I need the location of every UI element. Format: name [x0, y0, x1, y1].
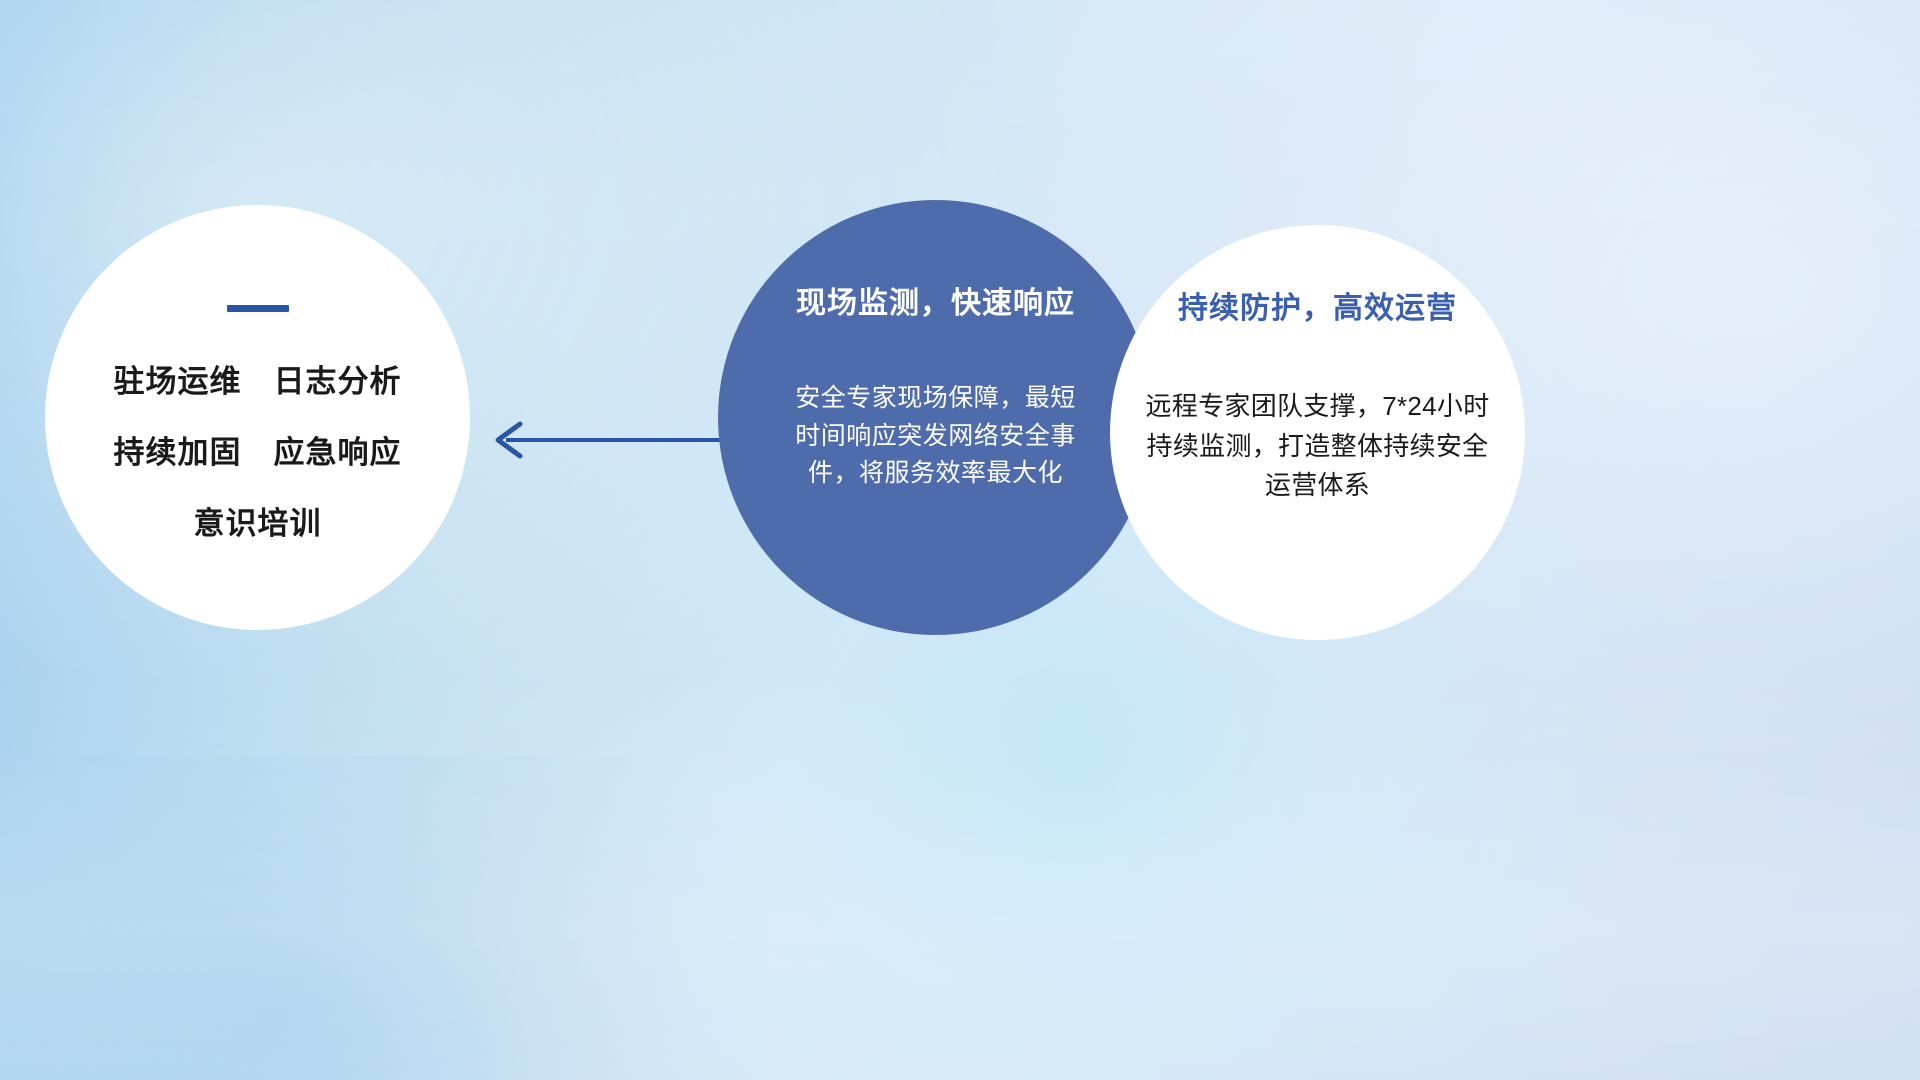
capability-tag[interactable]: 日志分析	[274, 356, 402, 401]
capability-tag[interactable]: 应急响应	[274, 427, 402, 472]
capability-tag-list: 驻场运维 日志分析 持续加固 应急响应 意识培训	[114, 356, 402, 543]
divider-dash-icon	[227, 305, 289, 312]
capability-tag[interactable]: 驻场运维	[114, 356, 242, 401]
slide-canvas: 驻场运维 日志分析 持续加固 应急响应 意识培训 现场监测，快速响应 安全专家现…	[0, 0, 1920, 1080]
onsite-monitoring-circle[interactable]: 现场监测，快速响应 安全专家现场保障，最短时间响应突发网络安全事件，将服务效率最…	[718, 200, 1153, 635]
capabilities-circle[interactable]: 驻场运维 日志分析 持续加固 应急响应 意识培训	[45, 205, 470, 630]
continuous-operation-circle[interactable]: 持续防护，高效运营 远程专家团队支撑，7*24小时持续监测，打造整体持续安全运营…	[1110, 225, 1525, 640]
onsite-circle-body: 安全专家现场保障，最短时间响应突发网络安全事件，将服务效率最大化	[786, 380, 1086, 493]
capability-row: 意识培训	[194, 498, 322, 543]
onsite-circle-title: 现场监测，快速响应	[796, 278, 1075, 322]
capability-row: 持续加固 应急响应	[114, 427, 402, 472]
continuous-circle-title: 持续防护，高效运营	[1178, 283, 1457, 327]
capability-tag[interactable]: 意识培训	[194, 498, 322, 543]
continuous-circle-body: 远程专家团队支撑，7*24小时持续监测，打造整体持续安全运营体系	[1139, 387, 1497, 506]
capability-tag[interactable]: 持续加固	[114, 427, 242, 472]
capability-row: 驻场运维 日志分析	[114, 356, 402, 401]
